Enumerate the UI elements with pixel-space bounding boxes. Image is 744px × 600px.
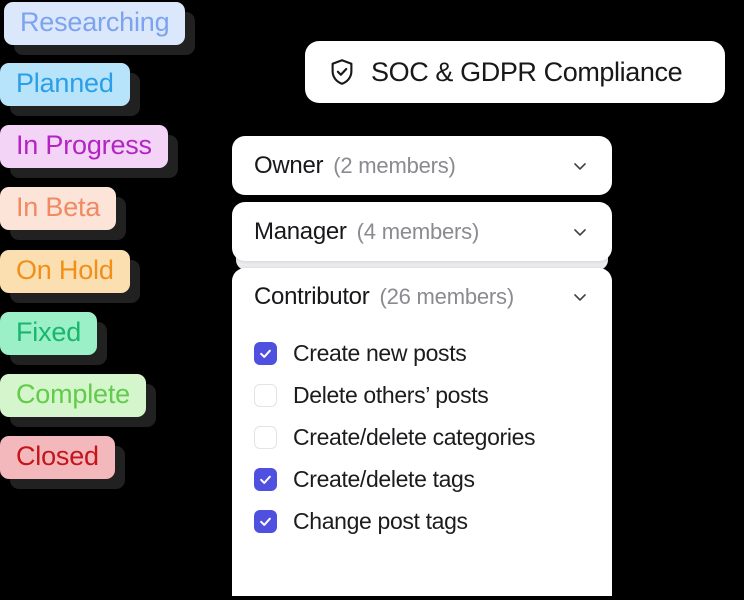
permission-label: Delete others’ posts [293, 382, 488, 409]
checkbox-checked-icon[interactable] [254, 510, 277, 533]
status-tag-label: Complete [0, 374, 146, 417]
status-tag-in-beta[interactable]: In Beta [0, 187, 116, 230]
status-tag-label: Closed [0, 436, 115, 479]
permission-row[interactable]: Create/delete tags [232, 458, 612, 500]
status-tag-planned[interactable]: Planned [0, 63, 130, 106]
permission-row[interactable]: Delete others’ posts [232, 374, 612, 416]
status-tag-label: Fixed [0, 312, 97, 355]
status-tag-label: Researching [4, 2, 185, 45]
permission-label: Create/delete tags [293, 466, 475, 493]
chevron-down-icon[interactable] [570, 287, 590, 307]
shield-check-icon [327, 57, 357, 87]
role-name-manager: Manager [254, 218, 347, 246]
right-dark-background [612, 150, 744, 600]
checkbox-unchecked-icon[interactable] [254, 384, 277, 407]
role-card-contributor[interactable]: Contributor (26 members) Create new post… [232, 268, 612, 596]
role-card-contributor-header[interactable]: Contributor (26 members) [232, 268, 612, 326]
checkbox-unchecked-icon[interactable] [254, 426, 277, 449]
status-tag-on-hold[interactable]: On Hold [0, 250, 130, 293]
checkbox-checked-icon[interactable] [254, 342, 277, 365]
permission-list: Create new postsDelete others’ postsCrea… [232, 326, 612, 542]
role-name-owner: Owner [254, 152, 323, 180]
chevron-down-icon[interactable] [570, 222, 590, 242]
compliance-badge-label: SOC & GDPR Compliance [371, 57, 682, 88]
status-tag-list: ResearchingPlannedIn ProgressIn BetaOn H… [0, 0, 232, 600]
status-tag-label: Planned [0, 63, 130, 106]
permission-label: Create/delete categories [293, 424, 535, 451]
checkbox-checked-icon[interactable] [254, 468, 277, 491]
status-tag-closed[interactable]: Closed [0, 436, 115, 479]
role-name-contributor: Contributor [254, 283, 369, 311]
status-tag-fixed[interactable]: Fixed [0, 312, 97, 355]
status-tag-label: In Progress [0, 125, 168, 168]
permission-label: Create new posts [293, 340, 466, 367]
permission-label: Change post tags [293, 508, 468, 535]
permission-row[interactable]: Create new posts [232, 332, 612, 374]
status-tag-label: In Beta [0, 187, 116, 230]
permission-row[interactable]: Create/delete categories [232, 416, 612, 458]
status-tag-in-progress[interactable]: In Progress [0, 125, 168, 168]
status-tag-researching[interactable]: Researching [0, 2, 185, 45]
role-card-owner[interactable]: Owner (2 members) [232, 136, 612, 195]
role-card-manager[interactable]: Manager (4 members) [232, 202, 612, 261]
role-member-count-manager: (4 members) [357, 219, 480, 245]
status-tag-complete[interactable]: Complete [0, 374, 146, 417]
permission-row[interactable]: Change post tags [232, 500, 612, 542]
role-member-count-owner: (2 members) [333, 153, 456, 179]
chevron-down-icon[interactable] [570, 156, 590, 176]
role-member-count-contributor: (26 members) [379, 284, 514, 310]
status-tag-label: On Hold [0, 250, 130, 293]
compliance-badge[interactable]: SOC & GDPR Compliance [305, 41, 725, 103]
